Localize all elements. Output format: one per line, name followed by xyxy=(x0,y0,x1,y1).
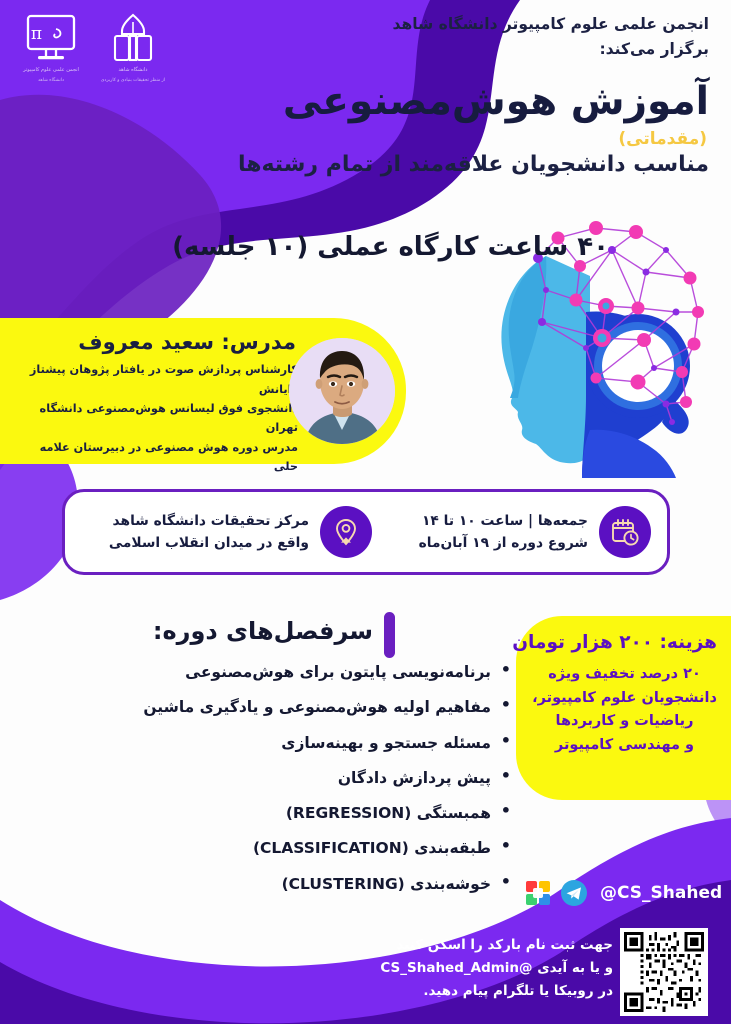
syllabus-accent-bar xyxy=(384,612,395,658)
association-logo-block: π انجمن علمی علوم کامپیوتر دانشگاه شاهد xyxy=(18,12,84,85)
registration-line-1: جهت ثبت نام بارکد را اسکن کنید xyxy=(333,934,613,957)
calendar-clock-icon xyxy=(599,506,651,558)
logo-group: دانشگاه شاهد از منظر تحقیقات بنیادی و کا… xyxy=(18,12,166,85)
university-logo-caption: دانشگاه شاهد xyxy=(102,67,164,74)
syllabus-heading: سرفصل‌های دوره: xyxy=(153,617,373,645)
organizer-line-1: انجمن علمی علوم کامپیوتر دانشگاه شاهد xyxy=(393,12,709,37)
list-item: خوشه‌بندی (CLUSTERING) xyxy=(151,876,511,892)
instructor-photo xyxy=(289,338,395,444)
registration-line-3: در روبیکا یا تلگرام پیام دهید. xyxy=(333,980,613,1003)
course-audience-subtitle: مناسب دانشجویان علاقه‌مند از تمام رشته‌ه… xyxy=(238,151,709,180)
registration-line-2: و یا به آیدی @CS_Shahed_Admin xyxy=(333,957,613,980)
discount-line-3: ریاضیات و کاربردها xyxy=(532,710,717,733)
avatar xyxy=(289,338,395,444)
computer-science-association-logo: π xyxy=(22,12,80,64)
poster-root: دانشگاه شاهد از منظر تحقیقات بنیادی و کا… xyxy=(0,0,731,1024)
schedule-location-pill: جمعه‌ها | ساعت ۱۰ تا ۱۴ شروع دوره از ۱۹ … xyxy=(62,489,670,575)
registration-qr-code[interactable] xyxy=(620,928,708,1016)
price-panel: هزینه: ۲۰۰ هزار تومان ۲۰ درصد تخفیف ویژه… xyxy=(516,616,731,800)
title-block: آموزش هوش‌مصنوعی (مقدماتی) مناسب دانشجوی… xyxy=(238,80,709,179)
list-item: مفاهیم اولیه هوش‌مصنوعی و یادگیری ماشین xyxy=(151,699,511,715)
instructor-credential-2: دانشجوی فوق لیسانس هوش‌مصنوعی دانشگاه ته… xyxy=(16,399,298,438)
schedule-text: جمعه‌ها | ساعت ۱۰ تا ۱۴ شروع دوره از ۱۹ … xyxy=(419,510,588,555)
university-logo-subcaption: از منظر تحقیقات بنیادی و کاربردی xyxy=(100,78,166,85)
qr-code-glyph xyxy=(624,932,704,1012)
course-level-badge: (مقدماتی) xyxy=(238,129,707,149)
discount-line-1: ۲۰ درصد تخفیف ویژه xyxy=(532,663,717,686)
location-pin-glyph xyxy=(331,517,361,547)
association-logo-subcaption: دانشگاه شاهد xyxy=(18,78,84,85)
location-text: مرکز تحقیقات دانشگاه شاهد واقع در میدان … xyxy=(109,510,309,555)
registration-instructions: جهت ثبت نام بارکد را اسکن کنید و یا به آ… xyxy=(333,934,613,1004)
telegram-icon[interactable] xyxy=(560,879,588,907)
list-item: طبقه‌بندی (CLASSIFICATION) xyxy=(151,840,511,856)
schedule-line-2: شروع دوره از ۱۹ آبان‌ماه xyxy=(419,532,588,554)
rubika-icon[interactable] xyxy=(524,879,552,907)
instructor-credential-3: مدرس دوره هوش مصنوعی در دبیرستان علامه ح… xyxy=(16,438,298,477)
location-cell: مرکز تحقیقات دانشگاه شاهد واقع در میدان … xyxy=(82,506,382,558)
organizer-line-2: برگزار می‌کند: xyxy=(393,37,709,62)
location-pin-icon xyxy=(320,506,372,558)
instructor-credential-1: کارشناس پردازش صوت در یافتار پژوهان پیشت… xyxy=(16,360,298,399)
page-title: آموزش هوش‌مصنوعی xyxy=(238,80,709,125)
instructor-name: مدرس: سعید معروف xyxy=(16,330,298,355)
price-headline: هزینه: ۲۰۰ هزار تومان xyxy=(532,632,717,654)
list-item: برنامه‌نویسی پایتون برای هوش‌مصنوعی xyxy=(151,664,511,680)
location-line-2: واقع در میدان انقلاب اسلامی xyxy=(109,532,309,554)
location-line-1: مرکز تحقیقات دانشگاه شاهد xyxy=(109,510,309,532)
syllabus-list: برنامه‌نویسی پایتون برای هوش‌مصنوعی مفاه… xyxy=(151,664,511,911)
organizer-header: انجمن علمی علوم کامپیوتر دانشگاه شاهد بر… xyxy=(393,12,709,62)
course-hours: ۴۰ ساعت کارگاه عملی (۱۰ جلسه) xyxy=(172,232,609,262)
university-logo-block: دانشگاه شاهد از منظر تحقیقات بنیادی و کا… xyxy=(100,12,166,85)
list-item: پیش پردازش دادگان xyxy=(151,770,511,786)
shahed-university-logo xyxy=(106,12,160,64)
calendar-clock-glyph xyxy=(610,517,640,547)
discount-line-4: و مهندسی کامپیوتر xyxy=(532,734,717,757)
schedule-line-1: جمعه‌ها | ساعت ۱۰ تا ۱۴ xyxy=(419,510,588,532)
list-item: همبستگی (REGRESSION) xyxy=(151,805,511,821)
social-row: @CS_Shahed xyxy=(524,879,722,907)
social-handle[interactable]: @CS_Shahed xyxy=(600,883,722,903)
schedule-cell: جمعه‌ها | ساعت ۱۰ تا ۱۴ شروع دوره از ۱۹ … xyxy=(382,506,667,558)
svg-text:π: π xyxy=(31,24,42,44)
instructor-panel: مدرس: سعید معروف کارشناس پردازش صوت در ی… xyxy=(0,318,406,464)
discount-line-2: دانشجویان علوم کامپیوتر، xyxy=(532,687,717,710)
list-item: مسئله جستجو و بهینه‌سازی xyxy=(151,735,511,751)
association-logo-caption: انجمن علمی علوم کامپیوتر xyxy=(20,67,82,74)
